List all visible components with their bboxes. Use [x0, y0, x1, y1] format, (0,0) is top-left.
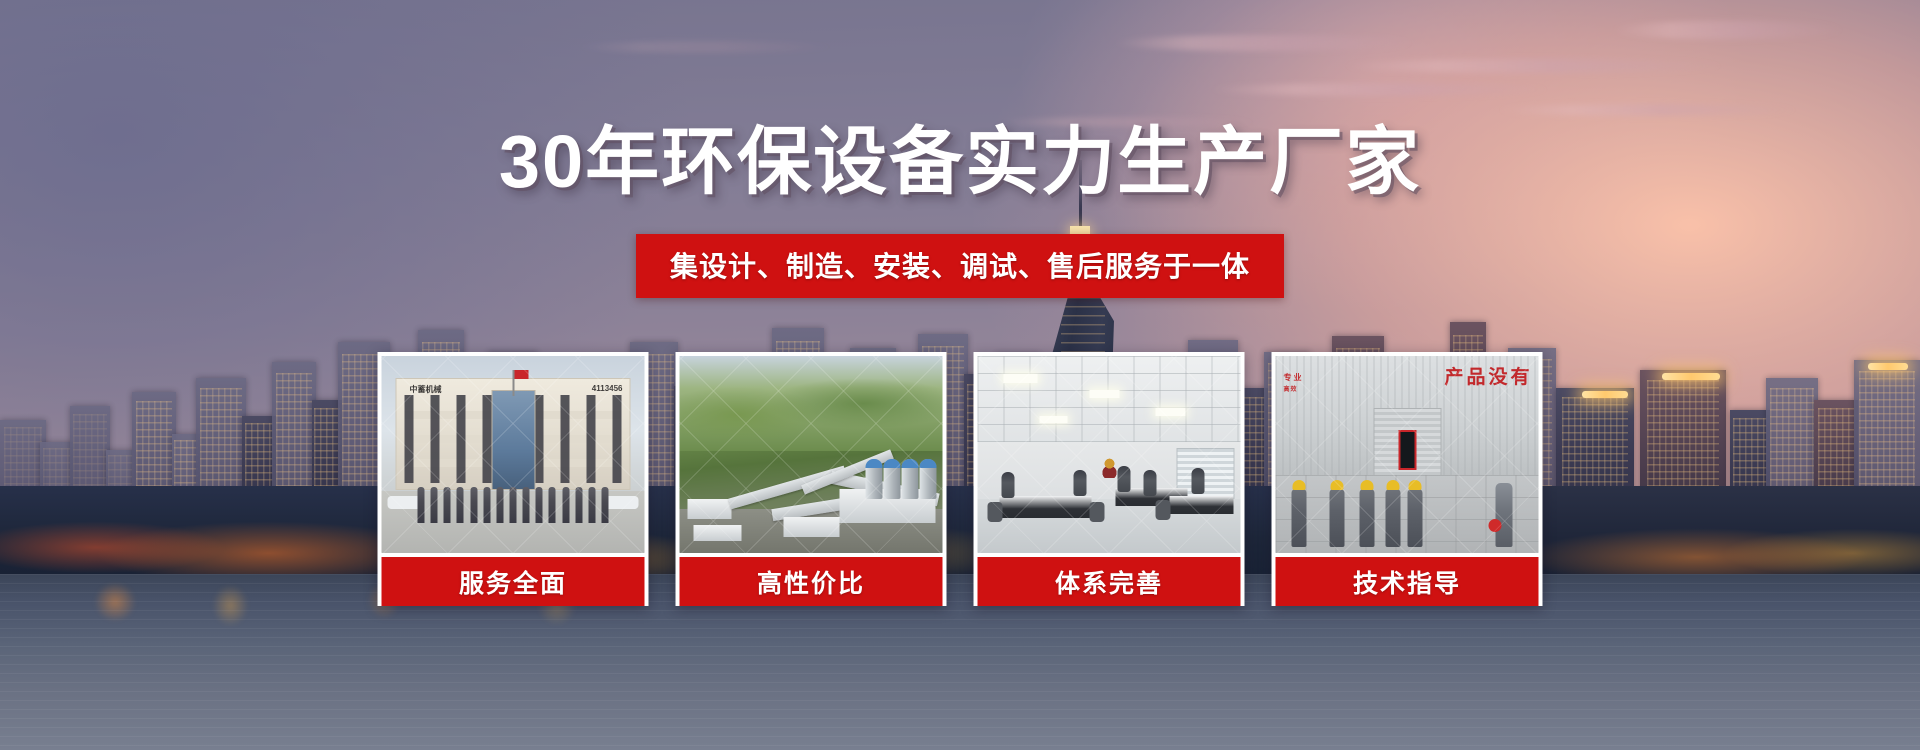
feature-card-list: 中蓄机械 4113456 服务全面 [378, 352, 1543, 606]
thumb-factory-banner-text: 产品没有 [1444, 362, 1532, 389]
workers-training-yard-photo: 产品没有 专业 高效 [1276, 356, 1539, 553]
subtitle-banner: 集设计、制造、安装、调试、售后服务于一体 [636, 234, 1284, 298]
feature-card-caption: 技术指导 [1276, 557, 1539, 606]
thumb-sign-text: 中蓄机械 [410, 384, 442, 395]
feature-card-3[interactable]: 体系完善 [974, 352, 1245, 606]
hero-banner: 30年环保设备实力生产厂家 集设计、制造、安装、调试、售后服务于一体 中蓄机械 … [0, 0, 1920, 750]
thumb-slogan-text-1: 专业 [1284, 372, 1304, 383]
office-interior-staff-photo [978, 356, 1241, 553]
feature-card-caption: 高性价比 [680, 557, 943, 606]
company-office-building-photo: 中蓄机械 4113456 [382, 356, 645, 553]
feature-card-4[interactable]: 产品没有 专业 高效 技术指导 [1272, 352, 1543, 606]
aerial-factory-plant-photo [680, 356, 943, 553]
feature-card-caption: 服务全面 [382, 557, 645, 606]
feature-card-1[interactable]: 中蓄机械 4113456 服务全面 [378, 352, 649, 606]
feature-card-2[interactable]: 高性价比 [676, 352, 947, 606]
subtitle-text: 集设计、制造、安装、调试、售后服务于一体 [670, 245, 1250, 285]
page-title: 30年环保设备实力生产厂家 [0, 102, 1920, 209]
thumb-slogan-text-2: 高效 [1284, 384, 1298, 393]
thumb-phone-text: 4113456 [592, 384, 623, 393]
feature-card-caption: 体系完善 [978, 557, 1241, 606]
